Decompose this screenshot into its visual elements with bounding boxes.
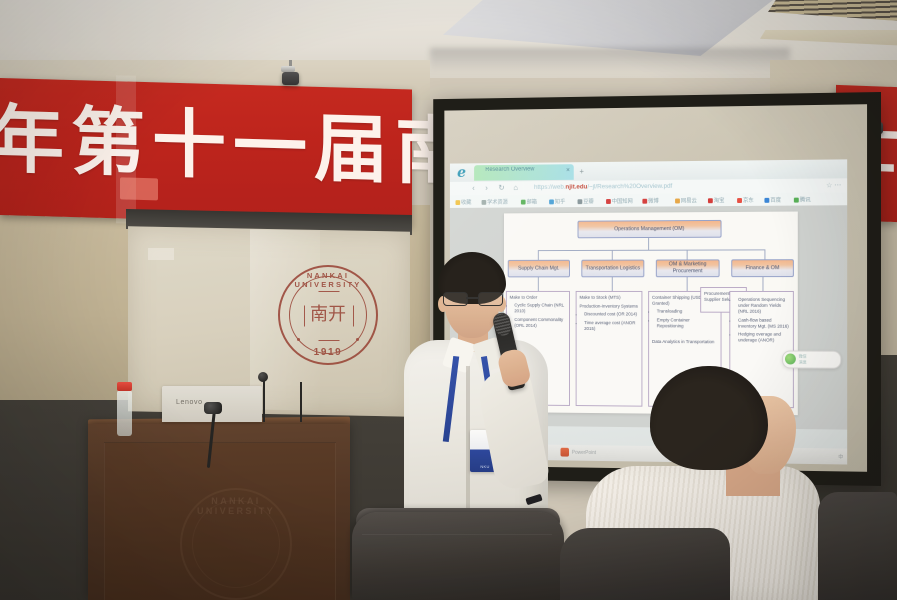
leaf-item: Hedging overage and underage (ANOR)	[738, 332, 790, 344]
diagram-root-node: Operations Management (OM)	[578, 220, 722, 238]
glasses-lens-right	[478, 292, 503, 306]
emblem-dot-right	[356, 338, 359, 341]
bookmark-item[interactable]: 知乎	[549, 197, 565, 205]
connector-vertical	[764, 249, 765, 259]
bookmark-item[interactable]: 百度	[764, 196, 781, 204]
taskbar-clock[interactable]: 中	[838, 453, 843, 460]
microphone-stand-right	[300, 382, 302, 422]
water-bottle	[117, 390, 132, 436]
forward-icon[interactable]: ›	[485, 183, 487, 192]
url-domain: njit.edu	[565, 184, 587, 191]
bookmark-item[interactable]: 微博	[642, 197, 658, 205]
bookmark-item[interactable]: 网易云	[675, 196, 697, 204]
emblem-top-text: NANKAI UNIVERSITY	[280, 271, 376, 289]
connector-vertical	[538, 250, 539, 260]
bookmark-item[interactable]: 腾讯	[794, 196, 811, 204]
spotlight-ring-1	[281, 66, 295, 72]
browser-tab[interactable]: Research Overview ×	[474, 164, 574, 181]
eyeglasses-icon	[443, 292, 501, 304]
bookmark-item[interactable]: 收藏	[455, 198, 471, 206]
leaf-heading: Make to Order	[510, 295, 567, 301]
connector-vertical	[612, 277, 613, 291]
diagram-leaf-box: Make to Stock (MTS) Production-Inventory…	[576, 291, 643, 407]
bookmark-item[interactable]: 邮箱	[521, 198, 537, 206]
banner-tape-patch	[120, 177, 158, 200]
emblem-year-text: 1919	[280, 347, 376, 358]
connector-vertical	[687, 250, 688, 260]
bookmark-item[interactable]: 豆瓣	[578, 197, 594, 205]
connector-vertical	[648, 238, 649, 250]
reload-icon[interactable]: ↻	[498, 183, 504, 192]
leaf-item: Component Commonality (ORL 2014)	[514, 317, 566, 329]
bookmark-item[interactable]: 淘宝	[708, 196, 725, 204]
wechat-notification-popup[interactable]: 微信 消息	[782, 350, 841, 368]
cable-connector	[204, 402, 222, 414]
spotlight-1	[282, 72, 299, 85]
taskbar-powerpoint-label[interactable]: PowerPoint	[572, 450, 596, 456]
leaf-subheading: Production-Inventory Systems	[579, 304, 638, 310]
connector-horizontal	[538, 249, 765, 251]
bottle-cap	[117, 382, 132, 391]
leaf-heading: Make to Stock (MTS)	[579, 295, 638, 301]
microphone-stand-left	[263, 380, 265, 422]
url-prefix: https://web.	[534, 184, 565, 191]
wechat-popup-line2: 消息	[799, 360, 807, 366]
edge-logo-icon: e	[455, 165, 469, 180]
diagram-branch-node: Finance & OM	[731, 259, 794, 277]
auditorium-chair-middle	[560, 528, 730, 600]
gooseneck-mic-head	[258, 372, 268, 382]
url-suffix: /~jl/Research%20Overview.pdf	[587, 183, 672, 191]
home-icon[interactable]: ⌂	[513, 183, 518, 192]
wechat-icon	[785, 353, 796, 364]
address-input[interactable]: https://web.njit.edu/~jl/Research%20Over…	[534, 183, 672, 191]
browser-toolbar-icons[interactable]: ☆ ⋯	[826, 181, 841, 189]
diagram-branch-node: Supply Chain Mgt.	[508, 260, 570, 278]
red-banner-left: 年第十一届南开	[0, 78, 412, 227]
lecture-hall-photo: 年第十一届南开 士学 NANKAI UNIVERSITY 南开 1919 e	[0, 0, 897, 600]
audience-hair	[650, 366, 768, 470]
presentation-slide: Operations Management (OM) Supply Chain …	[504, 212, 798, 416]
leaf-item: Discounted cost (OR 2014)	[584, 312, 638, 318]
back-icon[interactable]: ‹	[472, 184, 474, 193]
new-tab-icon[interactable]: +	[579, 167, 583, 176]
podium-emblem-text: NANKAI UNIVERSITY	[182, 496, 290, 516]
wooden-podium: NANKAI UNIVERSITY	[88, 424, 350, 600]
banner-tape-strip	[116, 75, 136, 224]
auditorium-chair-right	[818, 492, 897, 600]
leaf-item: Empty Container Repositioning	[657, 317, 718, 329]
bookmark-item[interactable]: 京东	[737, 196, 754, 204]
diagram-branch-node: OM & Marketing Procurement	[656, 259, 720, 277]
nankai-university-emblem: NANKAI UNIVERSITY 南开 1919	[278, 265, 378, 365]
connector-vertical	[612, 250, 613, 260]
board-tape	[148, 248, 174, 260]
bookmark-item[interactable]: 学术资源	[482, 198, 508, 206]
browser-tab-label: Research Overview	[485, 167, 534, 173]
leaf-item: Cyclic Supply Chain (NRL 2010)	[514, 303, 566, 315]
powerpoint-icon[interactable]	[560, 448, 569, 457]
glasses-bridge	[466, 297, 478, 299]
leaf-item: Data Analytics in Transportation	[652, 339, 718, 345]
connector-vertical	[538, 277, 539, 291]
leaf-item: Cash-flow based Inventory Mgt. (MS 2016)	[738, 317, 790, 329]
connector-vertical	[687, 277, 688, 291]
laptop-brand-label: Lenovo	[176, 399, 203, 406]
leaf-item: Operations Sequencing under Random Yield…	[738, 297, 790, 316]
leaf-item: Time average cost (ANOR 2015)	[584, 320, 638, 332]
banner-left-text: 年第十一届南开	[0, 92, 420, 200]
diagram-branch-node: Transportation Logistics	[581, 260, 644, 278]
glasses-lens-left	[443, 292, 468, 306]
emblem-chinese-text: 南开	[306, 293, 350, 337]
emblem-octagon	[304, 291, 354, 341]
podium-emblem: NANKAI UNIVERSITY	[180, 488, 292, 600]
chair-seam	[362, 534, 552, 535]
emblem-dot-left	[297, 338, 300, 341]
ceiling-shadow	[430, 48, 790, 72]
auditorium-chair-left	[352, 512, 564, 600]
bookmark-item[interactable]: 中国知网	[606, 197, 633, 205]
connector-vertical	[762, 277, 763, 291]
close-icon[interactable]: ×	[566, 167, 570, 174]
